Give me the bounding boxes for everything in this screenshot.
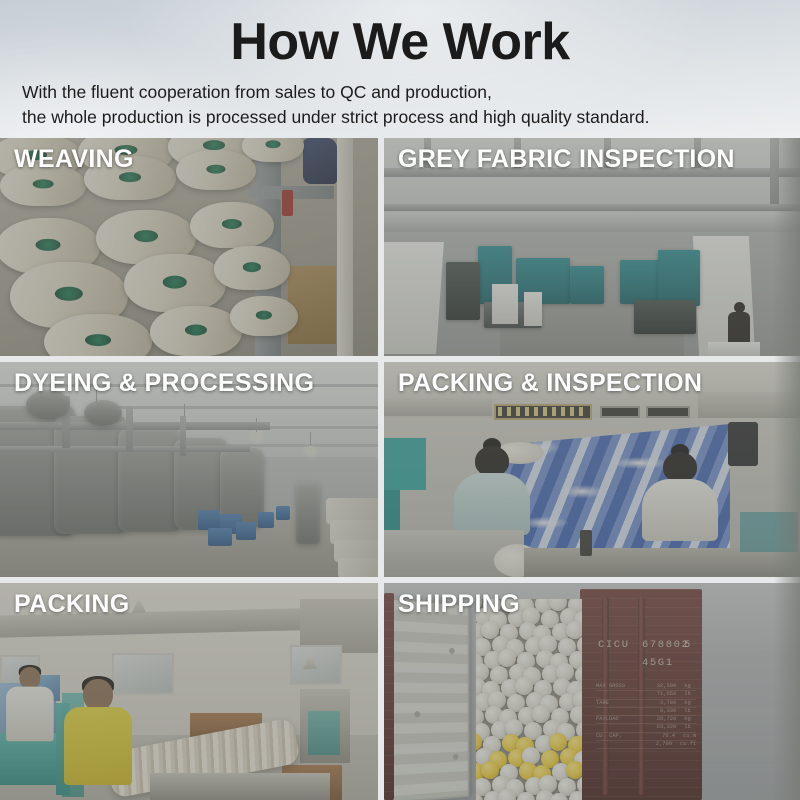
plate-value: 76.4: [646, 733, 675, 740]
subtitle-line-2: the whole production is processed under …: [22, 105, 800, 130]
plate-unit: lb: [684, 691, 696, 698]
caption-grey-fabric: GREY FABRIC INSPECTION: [398, 145, 735, 174]
plate-unit: kg: [684, 700, 696, 707]
caption-packing-inspection: PACKING & INSPECTION: [398, 369, 702, 398]
process-cell-packing[interactable]: PACKING: [0, 583, 378, 800]
caption-dyeing: DYEING & PROCESSING: [14, 369, 314, 398]
cargo-rolls: [476, 599, 582, 800]
container-serial: 678802: [642, 639, 689, 651]
process-cell-weaving[interactable]: WEAVING: [0, 138, 378, 356]
plate-unit: cu.m: [683, 733, 696, 740]
container-type-code: 45G1: [642, 657, 674, 669]
plate-unit: kg: [684, 716, 696, 723]
container-weight-plate: MAX GROSS32,500kg 71,650lb TARE3,780kg 8…: [596, 683, 696, 749]
how-we-work-page: How We Work With the fluent cooperation …: [0, 0, 800, 800]
plate-unit: cu.ft: [680, 741, 696, 748]
plate-unit: lb: [684, 708, 696, 715]
process-cell-dyeing[interactable]: DYEING & PROCESSING: [0, 362, 378, 577]
plate-value: 71,650: [647, 691, 676, 698]
container-check-digit: 5: [684, 639, 692, 651]
subtitle-line-1: With the fluent cooperation from sales t…: [22, 80, 800, 105]
plate-value: 2,700: [644, 741, 672, 748]
plate-value: 3,780: [647, 700, 676, 707]
process-cell-packing-inspection[interactable]: PACKING & INSPECTION: [384, 362, 800, 577]
caption-weaving: WEAVING: [14, 145, 134, 174]
plate-unit: lb: [684, 724, 696, 731]
page-title: How We Work: [0, 0, 800, 68]
plate-value: 28,720: [647, 716, 676, 723]
container-owner-code: CICU: [598, 639, 630, 651]
plate-value: 8,330: [647, 708, 676, 715]
process-cell-shipping[interactable]: CICU 678802 5 45G1 MAX GROSS32,500kg 71,…: [384, 583, 800, 800]
process-cell-grey-fabric[interactable]: GREY FABRIC INSPECTION: [384, 138, 800, 356]
caption-shipping: SHIPPING: [398, 590, 520, 619]
plate-label: PAYLOAD: [596, 716, 639, 723]
plate-label: TARE: [596, 700, 639, 707]
page-header: How We Work With the fluent cooperation …: [0, 0, 800, 138]
plate-unit: kg: [684, 683, 696, 690]
page-subtitle: With the fluent cooperation from sales t…: [0, 80, 800, 130]
process-grid: WEAVING: [0, 138, 800, 800]
plate-value: 63,320: [647, 724, 676, 731]
caption-packing: PACKING: [14, 590, 130, 619]
plate-label: MAX GROSS: [596, 683, 639, 690]
plate-label: CU. CAP.: [596, 733, 638, 740]
plate-value: 32,500: [647, 683, 676, 690]
